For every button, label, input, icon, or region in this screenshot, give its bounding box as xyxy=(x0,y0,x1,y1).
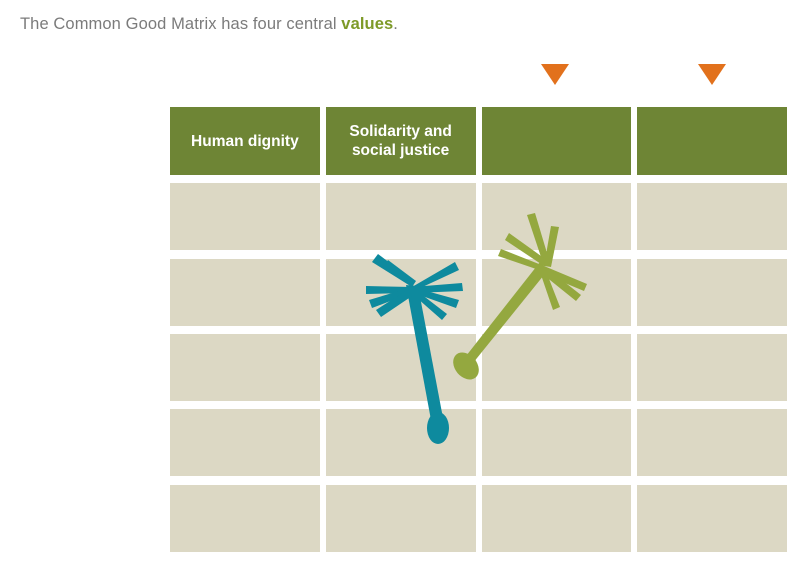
matrix-cell[interactable] xyxy=(326,334,476,401)
caption-accent-word: values xyxy=(341,15,393,33)
matrix-row xyxy=(170,334,787,401)
matrix-cell[interactable] xyxy=(637,259,787,326)
matrix-cell[interactable] xyxy=(482,183,632,250)
matrix-cell[interactable] xyxy=(326,183,476,250)
matrix-header-cell-human-dignity[interactable]: Human dignity xyxy=(170,107,320,175)
matrix-header-cell-3[interactable] xyxy=(482,107,632,175)
matrix-cell[interactable] xyxy=(326,485,476,552)
matrix-cell[interactable] xyxy=(482,485,632,552)
matrix-row xyxy=(170,259,787,326)
matrix-cell[interactable] xyxy=(637,334,787,401)
matrix-cell[interactable] xyxy=(482,409,632,476)
matrix-row xyxy=(170,409,787,476)
column-3-marker-triangle-icon xyxy=(541,64,569,85)
matrix-cell[interactable] xyxy=(637,409,787,476)
matrix-cell[interactable] xyxy=(170,259,320,326)
matrix-cell[interactable] xyxy=(637,183,787,250)
matrix-header-cell-solidarity-social-justice[interactable]: Solidarity and social justice xyxy=(326,107,476,175)
page-caption: The Common Good Matrix has four central … xyxy=(20,13,398,35)
matrix-cell[interactable] xyxy=(170,334,320,401)
matrix-header-row: Human dignity Solidarity and social just… xyxy=(170,107,787,175)
matrix-cell[interactable] xyxy=(170,485,320,552)
matrix-cell[interactable] xyxy=(482,259,632,326)
caption-text-after: . xyxy=(393,15,398,33)
matrix-cell[interactable] xyxy=(637,485,787,552)
matrix-cell[interactable] xyxy=(326,409,476,476)
column-4-marker-triangle-icon xyxy=(698,64,726,85)
matrix-cell[interactable] xyxy=(170,409,320,476)
common-good-matrix: Human dignity Solidarity and social just… xyxy=(170,107,787,552)
caption-text-before: The Common Good Matrix has four central xyxy=(20,15,341,33)
matrix-row xyxy=(170,183,787,250)
matrix-cell[interactable] xyxy=(170,183,320,250)
matrix-cell[interactable] xyxy=(482,334,632,401)
matrix-cell[interactable] xyxy=(326,259,476,326)
matrix-row xyxy=(170,485,787,552)
matrix-header-cell-4[interactable] xyxy=(637,107,787,175)
